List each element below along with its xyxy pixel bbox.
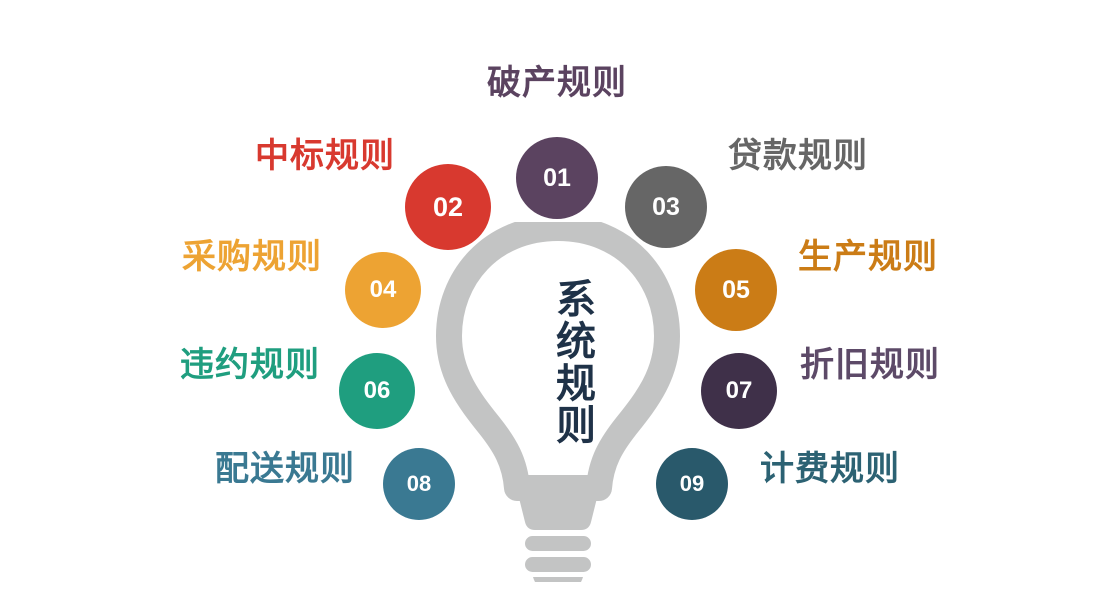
node-circle-03[interactable]: 03 xyxy=(625,166,707,248)
node-label-09[interactable]: 计费规则 xyxy=(760,452,1010,486)
node-number: 04 xyxy=(370,278,397,302)
node-number: 02 xyxy=(433,194,463,221)
node-number: 03 xyxy=(652,195,680,220)
node-number: 08 xyxy=(407,473,431,495)
node-label-04[interactable]: 采购规则 xyxy=(72,240,322,274)
node-number: 09 xyxy=(680,473,704,495)
infographic-canvas: 系统规则 01破产规则02中标规则03贷款规则04采购规则05生产规则06违约规… xyxy=(0,0,1115,611)
node-label-01[interactable]: 破产规则 xyxy=(432,66,682,100)
node-circle-04[interactable]: 04 xyxy=(345,252,421,328)
node-circle-05[interactable]: 05 xyxy=(695,249,777,331)
node-number: 01 xyxy=(543,166,571,191)
node-circle-02[interactable]: 02 xyxy=(405,164,491,250)
node-number: 06 xyxy=(364,379,391,403)
center-label: 系统规则 xyxy=(520,278,596,446)
node-label-03[interactable]: 贷款规则 xyxy=(728,139,978,173)
node-circle-07[interactable]: 07 xyxy=(701,353,777,429)
node-label-07[interactable]: 折旧规则 xyxy=(800,348,1050,382)
node-label-05[interactable]: 生产规则 xyxy=(798,240,1048,274)
node-number: 07 xyxy=(726,379,753,403)
node-circle-01[interactable]: 01 xyxy=(516,137,598,219)
node-label-06[interactable]: 违约规则 xyxy=(70,348,320,382)
node-label-08[interactable]: 配送规则 xyxy=(105,452,355,486)
node-number: 05 xyxy=(722,278,750,303)
node-circle-06[interactable]: 06 xyxy=(339,353,415,429)
node-circle-09[interactable]: 09 xyxy=(656,448,728,520)
node-label-02[interactable]: 中标规则 xyxy=(145,139,395,173)
node-circle-08[interactable]: 08 xyxy=(383,448,455,520)
